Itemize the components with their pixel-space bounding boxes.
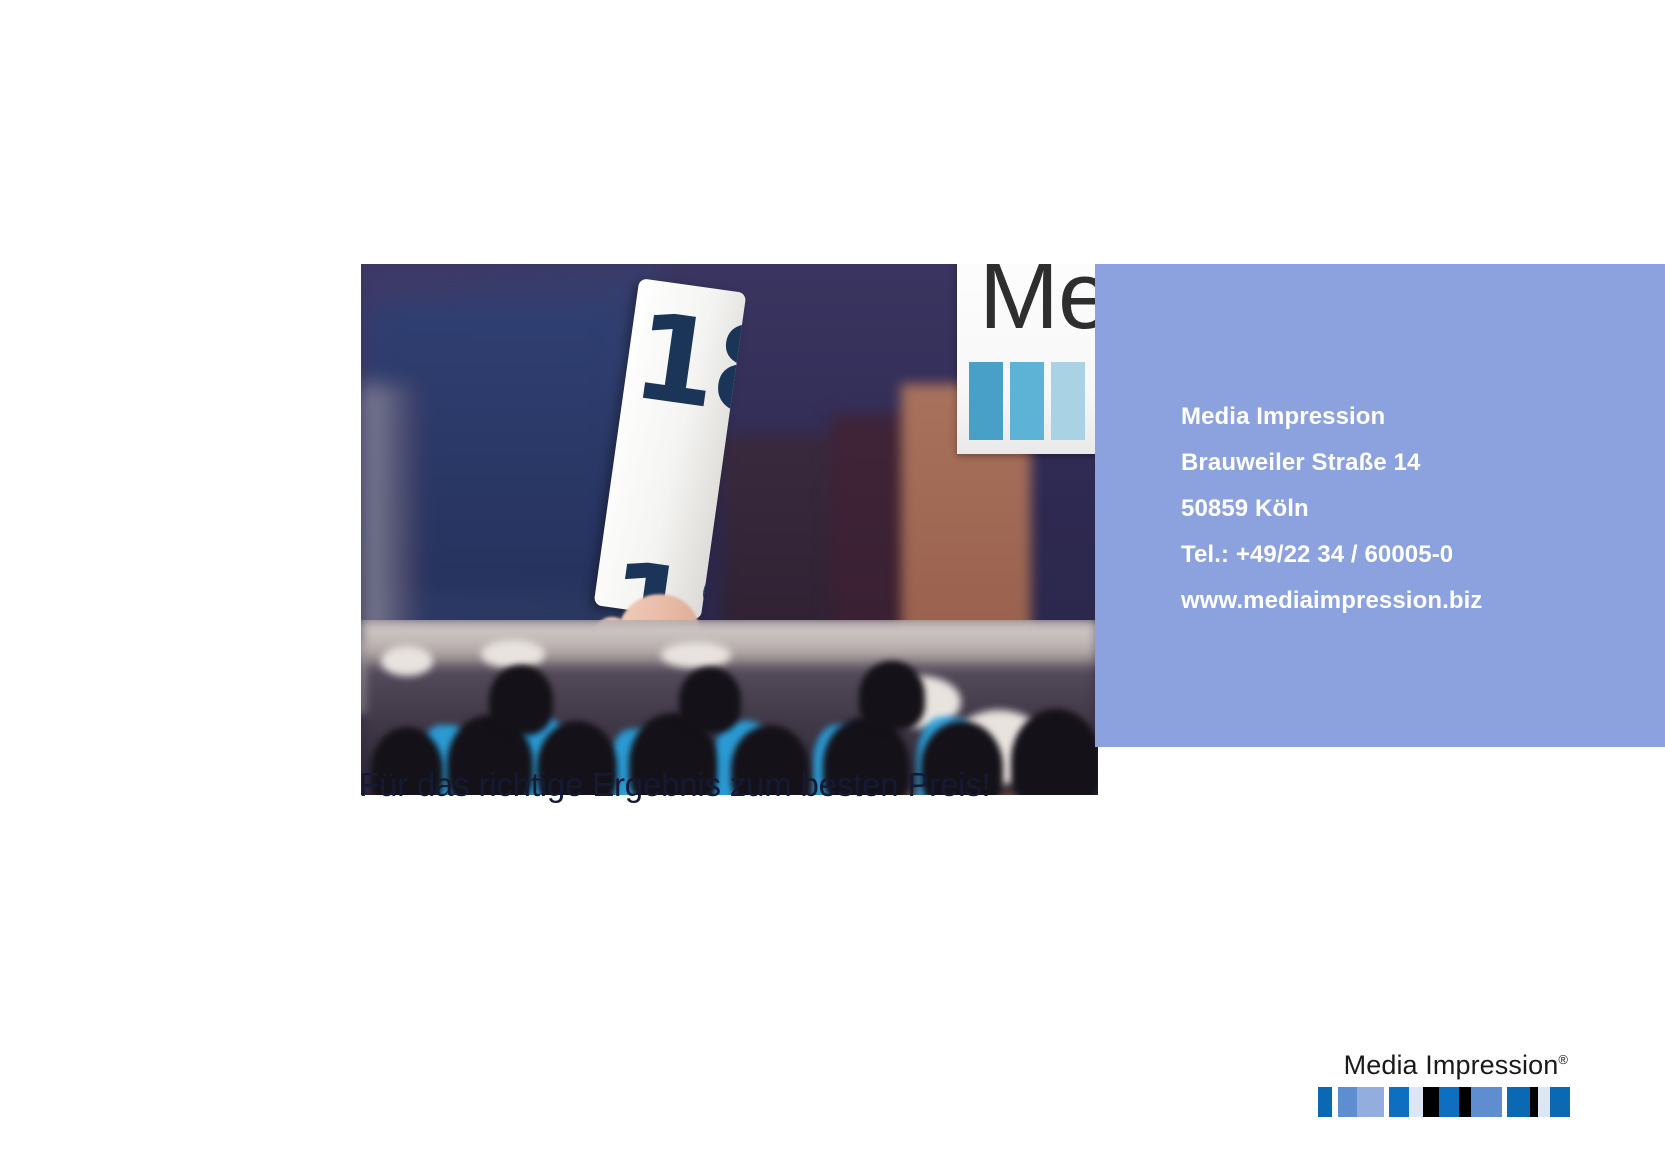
logo-stripe-1	[1318, 1087, 1332, 1117]
logo-stripe-3	[1338, 1087, 1358, 1117]
audience-head	[859, 661, 925, 731]
logo-stripe-13	[1507, 1087, 1530, 1117]
logo-wordmark-text: Media Impression	[1344, 1050, 1559, 1080]
banner-bar-1	[969, 362, 1003, 440]
contact-company-name: Media Impression	[1181, 394, 1621, 440]
logo-wordmark: Media Impression®	[1318, 1050, 1568, 1081]
contact-details: Media Impression Brauweiler Straße 14 50…	[1181, 394, 1621, 624]
logo-stripe-9	[1439, 1087, 1459, 1117]
photo-banner-sign: Me	[957, 264, 1098, 454]
banner-bar-2	[1010, 362, 1044, 440]
audience-head	[489, 665, 553, 735]
advert-page: Me 18 18	[0, 0, 1665, 1157]
tagline: Für das richtige Ergebnis zum besten Pre…	[359, 766, 991, 804]
photo-content: Me 18 18	[361, 264, 1098, 795]
audience-highlight	[381, 646, 433, 676]
auction-audience-photo: Me 18 18	[361, 264, 1098, 795]
logo-stripe-15	[1538, 1087, 1551, 1117]
contact-street: Brauweiler Straße 14	[1181, 440, 1621, 486]
logo-stripe-11	[1471, 1087, 1501, 1117]
contact-city: 50859 Köln	[1181, 486, 1621, 532]
logo-stripe-4	[1357, 1087, 1384, 1117]
audience-head	[679, 667, 741, 733]
footer-logo: Media Impression®	[1318, 1050, 1568, 1117]
contact-phone: Tel.: +49/22 34 / 60005-0	[1181, 532, 1621, 578]
logo-stripe-7	[1409, 1087, 1423, 1117]
registered-trademark-icon: ®	[1558, 1052, 1568, 1067]
logo-stripe-6	[1389, 1087, 1409, 1117]
logo-stripe-16	[1550, 1087, 1570, 1117]
banner-bar-3	[1051, 362, 1085, 440]
audience-highlight	[481, 640, 545, 668]
photo-side-wall	[361, 384, 421, 644]
logo-stripe-bar	[1318, 1087, 1570, 1117]
logo-stripe-14	[1530, 1087, 1537, 1117]
photo-banner-bars	[969, 362, 1085, 440]
photo-banner-text: Me	[979, 264, 1098, 344]
logo-stripe-10	[1459, 1087, 1472, 1117]
logo-stripe-8	[1423, 1087, 1439, 1117]
audience-highlight	[661, 642, 731, 668]
contact-panel: Media Impression Brauweiler Straße 14 50…	[1095, 264, 1665, 747]
contact-website[interactable]: www.mediaimpression.biz	[1181, 578, 1621, 624]
paddle-number: 18	[626, 297, 746, 431]
